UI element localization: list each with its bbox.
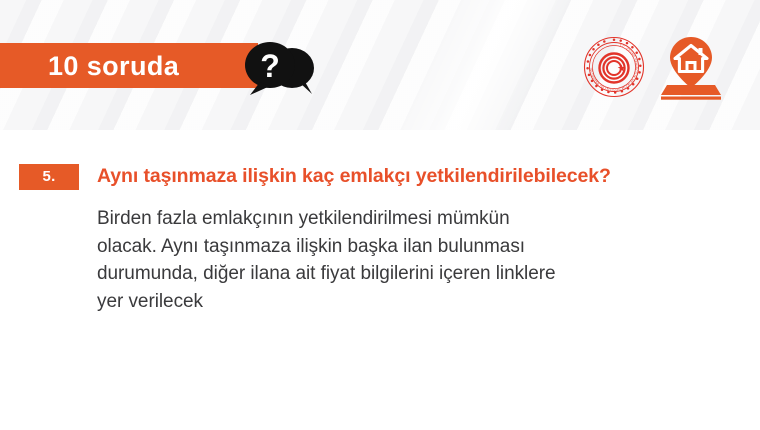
question-headline: Aynı taşınmaza ilişkin kaç emlakçı yetki…	[97, 162, 747, 190]
svg-text:?: ?	[260, 48, 280, 84]
answer-line: olacak. Aynı taşınmaza ilişkin başka ila…	[97, 233, 737, 261]
speech-bubbles-question-icon: ?	[240, 38, 318, 96]
answer-line: yer verilecek	[97, 288, 737, 316]
answer-line: Birden fazla emlakçının yetkilendirilmes…	[97, 205, 737, 233]
content-area: 5. Aynı taşınmaza ilişkin kaç emlakçı ye…	[0, 130, 760, 430]
ribbon-title-text: 10 soruda	[48, 50, 248, 82]
question-number-badge: 5.	[19, 164, 79, 190]
turkish-ministry-seal-logo: T.C. ÇEVRE ŞEHİRCİLİK VE İKLİM DEĞİŞİKLİ…	[583, 36, 645, 98]
house-location-pin-logo	[657, 33, 725, 101]
answer-line: durumunda, diğer ilana ait fiyat bilgile…	[97, 260, 737, 288]
answer-paragraph: Birden fazla emlakçının yetkilendirilmes…	[97, 205, 737, 315]
question-row: 5. Aynı taşınmaza ilişkin kaç emlakçı ye…	[0, 164, 760, 194]
